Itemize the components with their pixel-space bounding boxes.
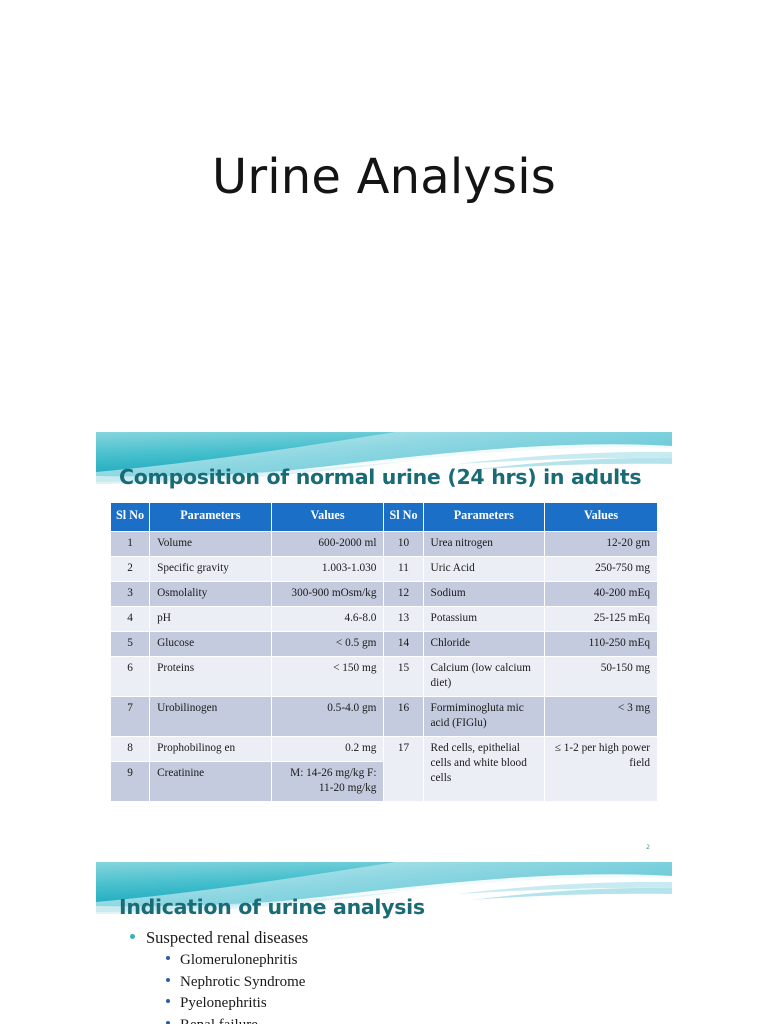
cell-value: 4.6-8.0 — [271, 607, 384, 632]
cell-sl: 13 — [384, 607, 423, 632]
cell-parameter: Specific gravity — [150, 557, 272, 582]
slide-page-number: 2 — [646, 844, 650, 851]
cell-sl: 1 — [111, 532, 150, 557]
table-row: 3 Osmolality 300-900 mOsm/kg 12 Sodium 4… — [111, 582, 658, 607]
cell-sl: 8 — [111, 737, 150, 762]
cell-value: 300-900 mOsm/kg — [271, 582, 384, 607]
list-item: Nephrotic Syndrome — [120, 972, 650, 994]
cell-sl: 12 — [384, 582, 423, 607]
list-item-label: Glomerulonephritis — [180, 950, 297, 972]
cell-sl: 11 — [384, 557, 423, 582]
cell-value: 0.5-4.0 gm — [271, 697, 384, 737]
table-header-row: Sl No Parameters Values Sl No Parameters… — [111, 503, 658, 532]
cell-sl: 2 — [111, 557, 150, 582]
list-item-label: Nephrotic Syndrome — [180, 972, 305, 994]
cell-sl: 3 — [111, 582, 150, 607]
bullet-dot-icon — [166, 999, 170, 1003]
cell-sl: 5 — [111, 632, 150, 657]
column-header-parameters-right: Parameters — [423, 503, 545, 532]
column-header-values-left: Values — [271, 503, 384, 532]
cell-parameter: Chloride — [423, 632, 545, 657]
cell-sl: 4 — [111, 607, 150, 632]
cell-value: < 0.5 gm — [271, 632, 384, 657]
cell-sl: 6 — [111, 657, 150, 697]
slide-heading-indication: Indication of urine analysis — [119, 895, 425, 919]
composition-table: Sl No Parameters Values Sl No Parameters… — [110, 502, 658, 802]
cell-value: 50-150 mg — [545, 657, 658, 697]
cell-value: < 150 mg — [271, 657, 384, 697]
cell-value: 0.2 mg — [271, 737, 384, 762]
cell-value: 600-2000 ml — [271, 532, 384, 557]
cell-value: 250-750 mg — [545, 557, 658, 582]
slide-composition: Composition of normal urine (24 hrs) in … — [96, 432, 672, 860]
column-header-parameters-left: Parameters — [150, 503, 272, 532]
bullet-dot-icon — [166, 956, 170, 960]
column-header-sl-no-right: Sl No — [384, 503, 423, 532]
cell-parameter: Creatinine — [150, 762, 272, 802]
cell-value: 1.003-1.030 — [271, 557, 384, 582]
cell-value: 40-200 mEq — [545, 582, 658, 607]
cell-parameter: Uric Acid — [423, 557, 545, 582]
list-item: Glomerulonephritis — [120, 950, 650, 972]
list-item: Pyelonephritis — [120, 993, 650, 1015]
list-item: Renal failure — [120, 1015, 650, 1024]
cell-parameter: Sodium — [423, 582, 545, 607]
cell-parameter: Volume — [150, 532, 272, 557]
indication-bullet-list: Suspected renal diseases Glomerulonephri… — [120, 926, 650, 1024]
cell-value: ≤ 1-2 per high power field — [545, 737, 658, 802]
table-row: 8 Prophobilinog en 0.2 mg 17 Red cells, … — [111, 737, 658, 762]
cell-sl: 7 — [111, 697, 150, 737]
cell-parameter: Urobilinogen — [150, 697, 272, 737]
cell-parameter: Calcium (low calcium diet) — [423, 657, 545, 697]
table-row: 4 pH 4.6-8.0 13 Potassium 25-125 mEq — [111, 607, 658, 632]
cell-parameter: Urea nitrogen — [423, 532, 545, 557]
bullet-dot-icon — [130, 934, 135, 939]
bullet-dot-icon — [166, 1021, 170, 1024]
cell-value: 12-20 gm — [545, 532, 658, 557]
cell-parameter: Glucose — [150, 632, 272, 657]
cell-value: 110-250 mEq — [545, 632, 658, 657]
table-row: 1 Volume 600-2000 ml 10 Urea nitrogen 12… — [111, 532, 658, 557]
column-header-values-right: Values — [545, 503, 658, 532]
cell-parameter: pH — [150, 607, 272, 632]
cell-value: M: 14-26 mg/kg F: 11-20 mg/kg — [271, 762, 384, 802]
list-item-label: Renal failure — [180, 1015, 258, 1024]
cell-parameter: Prophobilinog en — [150, 737, 272, 762]
cell-sl: 16 — [384, 697, 423, 737]
cell-parameter: Osmolality — [150, 582, 272, 607]
bullet-dot-icon — [166, 978, 170, 982]
table-row: 5 Glucose < 0.5 gm 14 Chloride 110-250 m… — [111, 632, 658, 657]
list-item-label: Suspected renal diseases — [146, 926, 308, 950]
table-row: 6 Proteins < 150 mg 15 Calcium (low calc… — [111, 657, 658, 697]
cell-parameter: Potassium — [423, 607, 545, 632]
slide-indication: Indication of urine analysis Suspected r… — [96, 862, 672, 1024]
list-item-label: Pyelonephritis — [180, 993, 267, 1015]
column-header-sl-no-left: Sl No — [111, 503, 150, 532]
cell-sl: 17 — [384, 737, 423, 802]
list-item: Suspected renal diseases — [120, 926, 650, 950]
table-row: 7 Urobilinogen 0.5-4.0 gm 16 Formiminogl… — [111, 697, 658, 737]
cell-sl: 9 — [111, 762, 150, 802]
cell-parameter: Proteins — [150, 657, 272, 697]
cell-sl: 14 — [384, 632, 423, 657]
cell-sl: 15 — [384, 657, 423, 697]
page-title: Urine Analysis — [0, 148, 768, 206]
cell-parameter: Red cells, epithelial cells and white bl… — [423, 737, 545, 802]
slide-heading-composition: Composition of normal urine (24 hrs) in … — [119, 465, 641, 489]
cell-value: 25-125 mEq — [545, 607, 658, 632]
table-row: 2 Specific gravity 1.003-1.030 11 Uric A… — [111, 557, 658, 582]
cell-value: < 3 mg — [545, 697, 658, 737]
cell-sl: 10 — [384, 532, 423, 557]
cell-parameter: Formiminogluta mic acid (FIGlu) — [423, 697, 545, 737]
